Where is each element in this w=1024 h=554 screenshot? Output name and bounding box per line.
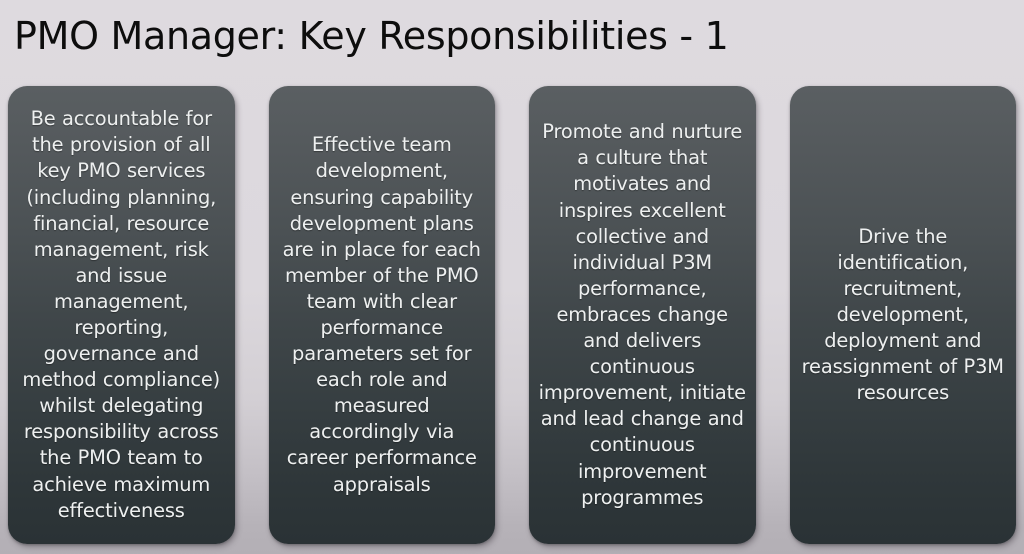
responsibility-card-2-text: Effective team development, ensuring cap… — [277, 132, 488, 497]
responsibility-card-3[interactable]: Promote and nurture a culture that motiv… — [529, 86, 756, 544]
responsibility-card-4[interactable]: Drive the identification, recruitment, d… — [790, 86, 1017, 544]
page-title: PMO Manager: Key Responsibilities - 1 — [14, 8, 1004, 64]
responsibility-card-1[interactable]: Be accountable for the provision of all … — [8, 86, 235, 544]
responsibility-card-3-text: Promote and nurture a culture that motiv… — [537, 119, 748, 510]
responsibility-card-4-text: Drive the identification, recruitment, d… — [798, 224, 1009, 407]
responsibility-card-row: Be accountable for the provision of all … — [8, 86, 1016, 544]
responsibility-card-1-text: Be accountable for the provision of all … — [16, 106, 227, 524]
responsibility-card-2[interactable]: Effective team development, ensuring cap… — [269, 86, 496, 544]
